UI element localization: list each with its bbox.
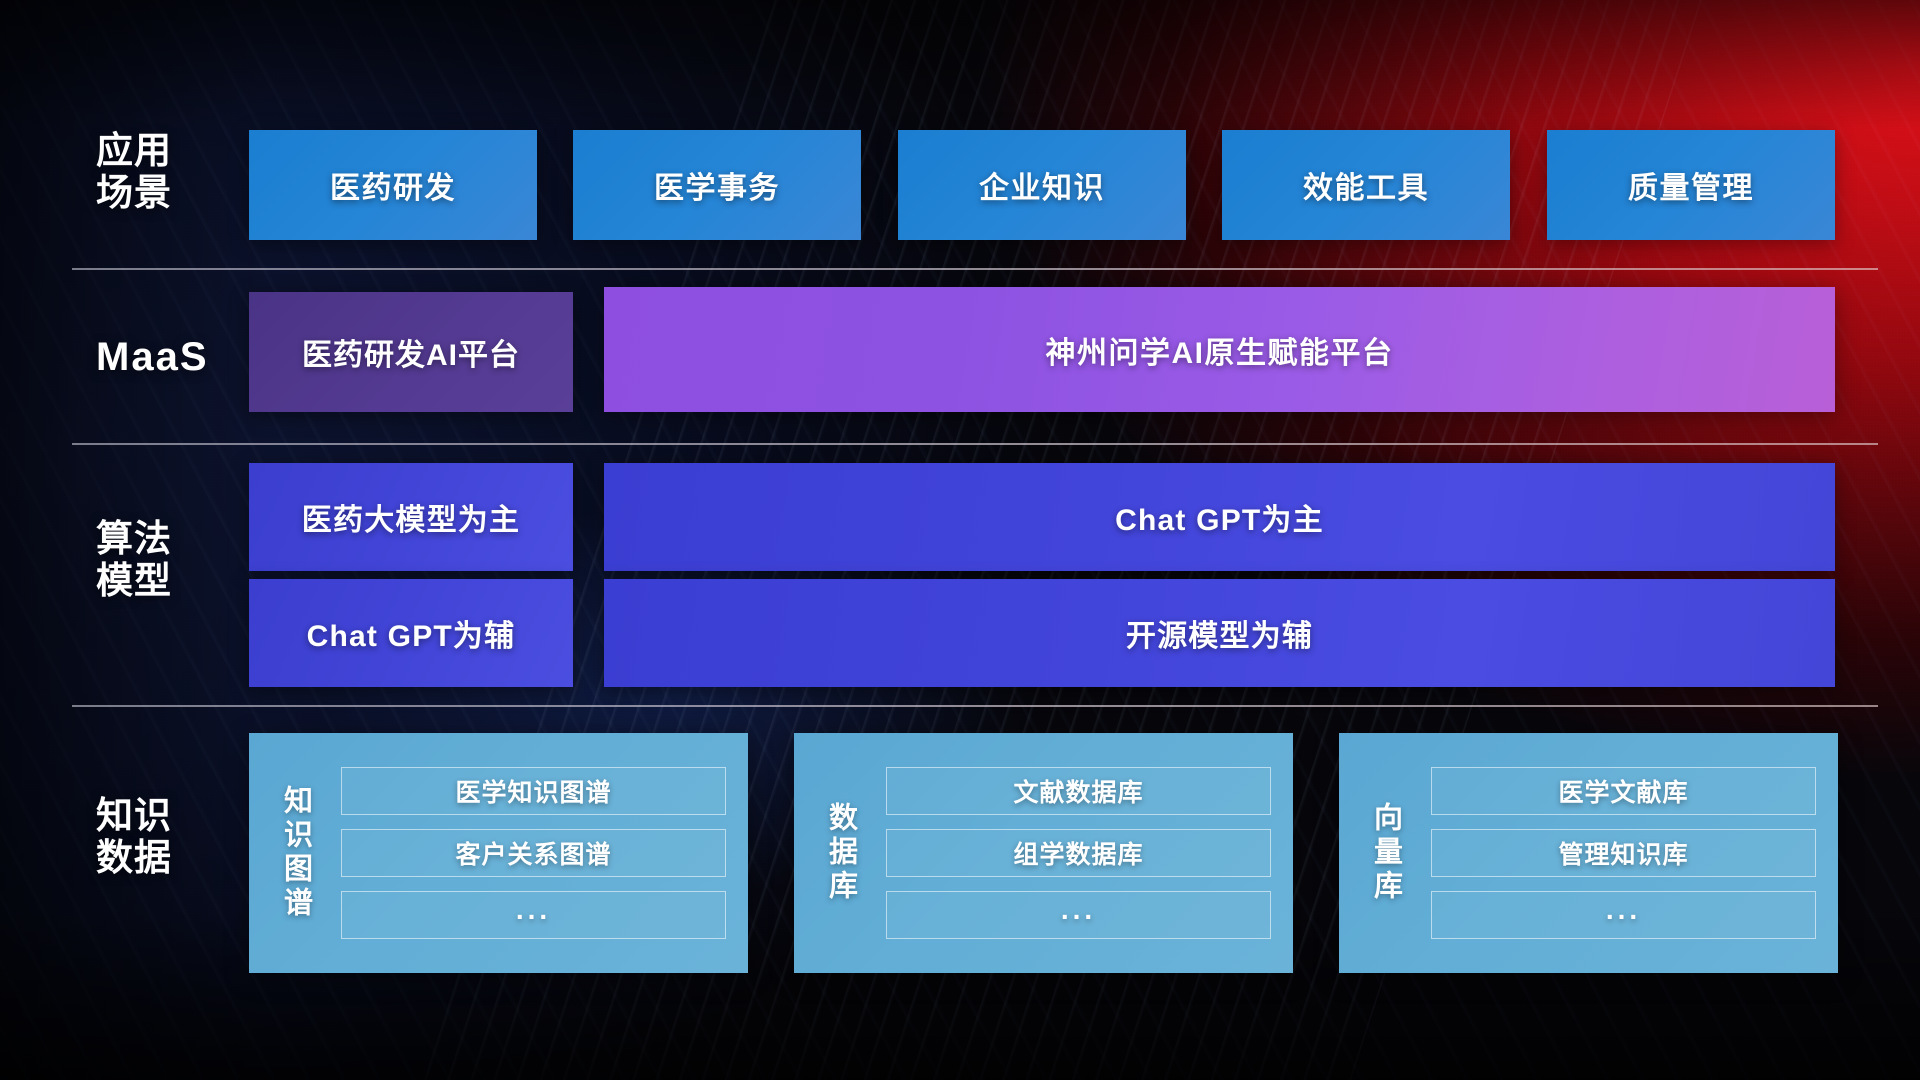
knowledge-item-more-graph[interactable]: ... <box>341 891 726 939</box>
architecture-diagram: 应用 场景 医药研发 医学事务 企业知识 效能工具 质量管理 MaaS 医药研发… <box>0 0 1920 1080</box>
alg-box-chatgpt-secondary-label: Chat GPT为辅 <box>307 611 516 655</box>
knowledge-item-medical-knowledge-graph[interactable]: 医学知识图谱 <box>341 767 726 815</box>
knowledge-item-more-vector-label: ... <box>1606 894 1641 926</box>
app-box-quality-management-label: 质量管理 <box>1628 163 1754 207</box>
knowledge-item-customer-relation-graph[interactable]: 客户关系图谱 <box>341 829 726 877</box>
knowledge-group-vector-store-items: 医学文献库 管理知识库 ... <box>1431 733 1838 973</box>
knowledge-item-literature-database[interactable]: 文献数据库 <box>886 767 1271 815</box>
knowledge-group-knowledge-graph[interactable]: 知识图谱 医学知识图谱 客户关系图谱 ... <box>249 733 748 973</box>
row-label-knowledge-line2: 数据 <box>96 837 246 879</box>
app-box-enterprise-knowledge-label: 企业知识 <box>979 163 1105 207</box>
knowledge-group-vector-store[interactable]: 向量库 医学文献库 管理知识库 ... <box>1339 733 1838 973</box>
app-box-medical-affairs[interactable]: 医学事务 <box>573 130 861 240</box>
knowledge-item-literature-database-label: 文献数据库 <box>1013 773 1143 809</box>
maas-box-shenzhou-wenxue-platform[interactable]: 神州问学AI原生赋能平台 <box>604 287 1835 412</box>
maas-box-drug-rd-ai-platform-label: 医药研发AI平台 <box>302 330 520 374</box>
knowledge-item-medical-knowledge-graph-label: 医学知识图谱 <box>455 773 611 809</box>
app-box-enterprise-knowledge[interactable]: 企业知识 <box>898 130 1186 240</box>
knowledge-group-database[interactable]: 数据库 文献数据库 组学数据库 ... <box>794 733 1293 973</box>
knowledge-group-database-title: 数据库 <box>794 733 886 973</box>
app-box-medical-affairs-label: 医学事务 <box>654 163 780 207</box>
row-label-knowledge: 知识 数据 <box>96 795 246 879</box>
knowledge-item-more-vector[interactable]: ... <box>1431 891 1816 939</box>
app-box-quality-management[interactable]: 质量管理 <box>1547 130 1835 240</box>
knowledge-item-management-knowledge-store[interactable]: 管理知识库 <box>1431 829 1816 877</box>
alg-box-chatgpt-primary[interactable]: Chat GPT为主 <box>604 463 1835 571</box>
row-label-applications-line1: 应用 <box>96 130 246 172</box>
knowledge-group-knowledge-graph-items: 医学知识图谱 客户关系图谱 ... <box>341 733 748 973</box>
row-label-maas-text: MaaS <box>96 335 246 381</box>
maas-box-shenzhou-wenxue-platform-label: 神州问学AI原生赋能平台 <box>1046 328 1394 372</box>
app-box-efficiency-tools-label: 效能工具 <box>1303 163 1429 207</box>
knowledge-item-omics-database[interactable]: 组学数据库 <box>886 829 1271 877</box>
knowledge-item-management-knowledge-store-label: 管理知识库 <box>1558 835 1688 871</box>
alg-box-medical-llm-primary-label: 医药大模型为主 <box>302 495 520 539</box>
app-box-efficiency-tools[interactable]: 效能工具 <box>1222 130 1510 240</box>
knowledge-item-more-database-label: ... <box>1061 894 1096 926</box>
row-label-applications-line2: 场景 <box>96 172 246 214</box>
app-box-drug-rd[interactable]: 医药研发 <box>249 130 537 240</box>
row-label-maas: MaaS <box>96 335 246 381</box>
knowledge-item-more-graph-label: ... <box>516 894 551 926</box>
alg-box-medical-llm-primary[interactable]: 医药大模型为主 <box>249 463 573 571</box>
knowledge-group-vector-store-title: 向量库 <box>1339 733 1431 973</box>
row-label-algorithms-line1: 算法 <box>96 518 246 560</box>
knowledge-item-more-database[interactable]: ... <box>886 891 1271 939</box>
divider-maas-algorithms <box>72 443 1878 445</box>
row-label-algorithms: 算法 模型 <box>96 518 246 602</box>
divider-applications-maas <box>72 268 1878 270</box>
app-box-drug-rd-label: 医药研发 <box>330 163 456 207</box>
alg-box-chatgpt-primary-label: Chat GPT为主 <box>1115 495 1324 539</box>
knowledge-item-medical-literature-store-label: 医学文献库 <box>1558 773 1688 809</box>
alg-box-chatgpt-secondary[interactable]: Chat GPT为辅 <box>249 579 573 687</box>
knowledge-group-database-items: 文献数据库 组学数据库 ... <box>886 733 1293 973</box>
row-label-knowledge-line1: 知识 <box>96 795 246 837</box>
row-label-applications: 应用 场景 <box>96 130 246 214</box>
alg-box-opensource-secondary[interactable]: 开源模型为辅 <box>604 579 1835 687</box>
maas-box-drug-rd-ai-platform[interactable]: 医药研发AI平台 <box>249 292 573 412</box>
knowledge-item-omics-database-label: 组学数据库 <box>1013 835 1143 871</box>
divider-algorithms-knowledge <box>72 705 1878 707</box>
row-label-algorithms-line2: 模型 <box>96 560 246 602</box>
knowledge-group-knowledge-graph-title: 知识图谱 <box>249 733 341 973</box>
knowledge-item-customer-relation-graph-label: 客户关系图谱 <box>455 835 611 871</box>
knowledge-item-medical-literature-store[interactable]: 医学文献库 <box>1431 767 1816 815</box>
alg-box-opensource-secondary-label: 开源模型为辅 <box>1126 611 1313 655</box>
